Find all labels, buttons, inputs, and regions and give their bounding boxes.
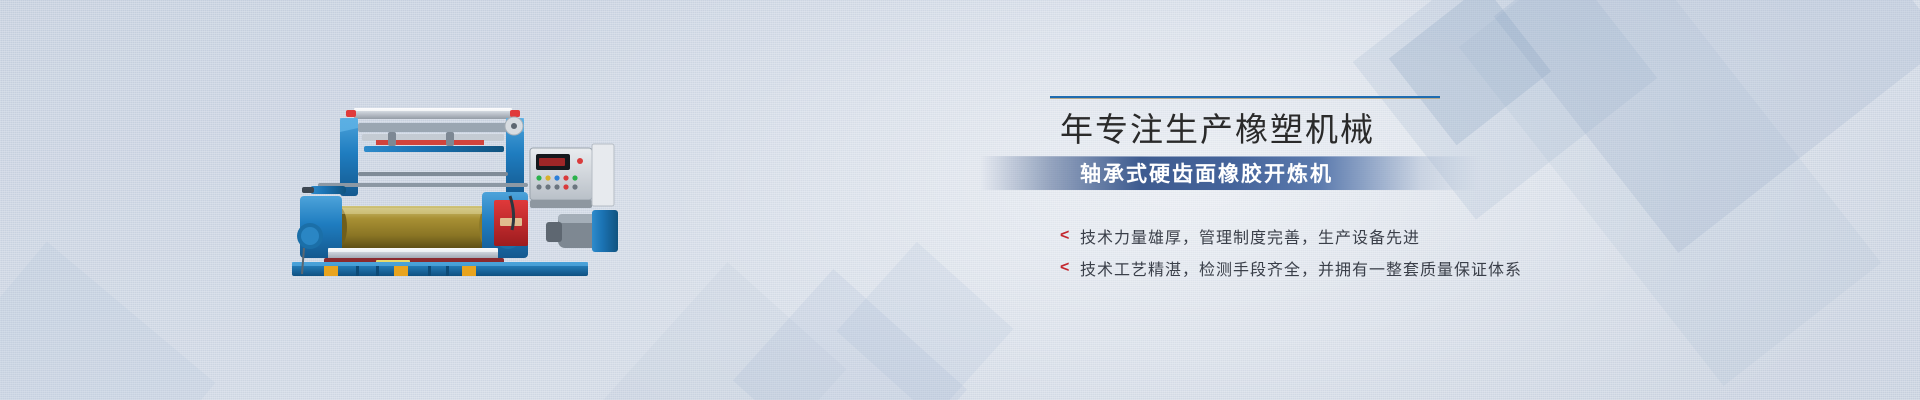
feature-bullet-list: < 技术力量雄厚，管理制度完善，生产设备先进 < 技术工艺精湛，检测手段齐全，并…: [1060, 220, 1750, 284]
subtitle-banner-bar: 轴承式硬齿面橡胶开炼机: [980, 156, 1480, 190]
product-image-rubber-mill: [258, 88, 618, 278]
promo-banner: 年专注生产橡塑机械 轴承式硬齿面橡胶开炼机 < 技术力量雄厚，管理制度完善，生产…: [0, 0, 1920, 400]
title-divider-rule: [1050, 96, 1440, 99]
page-title: 年专注生产橡塑机械: [1060, 108, 1750, 152]
banner-text-block: 年专注生产橡塑机械 轴承式硬齿面橡胶开炼机 < 技术力量雄厚，管理制度完善，生产…: [1050, 96, 1750, 284]
chevron-left-icon: <: [1060, 227, 1080, 245]
subtitle-text: 轴承式硬齿面橡胶开炼机: [980, 158, 1333, 188]
decor-shape-bottom-left: [0, 242, 215, 400]
bullet-text: 技术工艺精湛，检测手段齐全，并拥有一整套质量保证体系: [1080, 256, 1522, 280]
decor-shape-bottom-center-2: [837, 242, 1014, 400]
list-item: < 技术力量雄厚，管理制度完善，生产设备先进: [1060, 220, 1750, 252]
decor-shape-bottom-center-3: [594, 262, 847, 400]
bullet-text: 技术力量雄厚，管理制度完善，生产设备先进: [1080, 224, 1420, 248]
chevron-left-icon: <: [1060, 259, 1080, 277]
decor-shape-bottom-center-1: [733, 269, 967, 400]
list-item: < 技术工艺精湛，检测手段齐全，并拥有一整套质量保证体系: [1060, 252, 1750, 284]
